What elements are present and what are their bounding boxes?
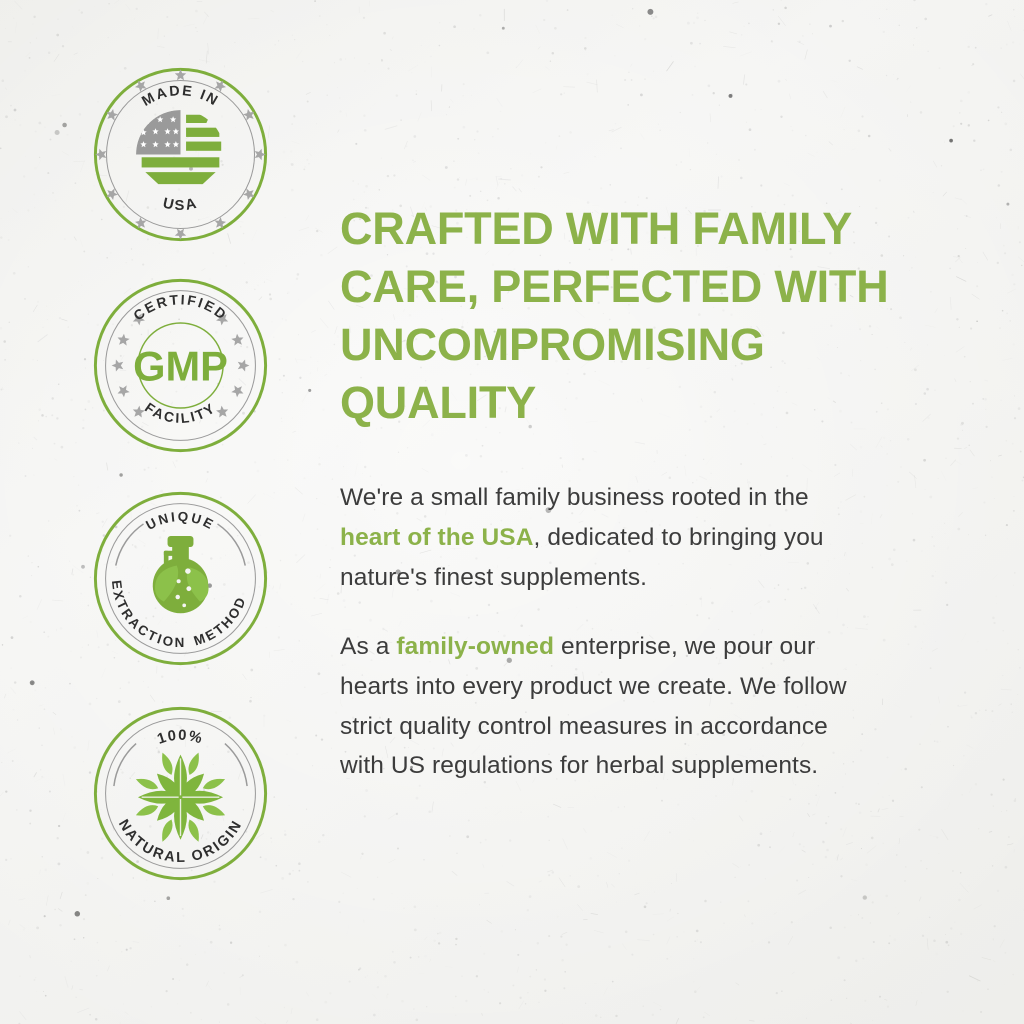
unique-extraction-method-badge: UNIQUE EXTRACTION METHOD [88,486,273,671]
flask-leaf-icon [153,536,209,613]
page-headline: Crafted with family care, perfected with… [340,200,900,432]
decorative-arc-left [114,744,136,787]
badge-top-text: 100% [155,728,205,748]
badge-top-text: MADE IN [139,83,221,110]
body-text: We're a small family business rooted in … [340,484,809,511]
us-flag-circle-icon [136,110,221,184]
highlighted-phrase: family-owned [396,633,554,660]
highlighted-phrase: heart of the USA [340,524,534,551]
page-root: MADE IN USA [0,0,1024,1024]
leaf-rosette-icon [134,751,226,843]
badge-bottom-text: FACILITY [142,399,219,426]
gmp-text-icon: GMP [133,342,228,389]
content-area: MADE IN USA [0,0,1024,1024]
badge-top-text: CERTIFIED [130,291,231,323]
natural-origin-badge: 100% NATURAL ORIGIN [88,701,273,886]
decorative-arc-right [218,524,246,566]
certification-badge-column: MADE IN USA [0,0,340,1024]
body-copy: We're a small family business rooted in … [340,478,914,786]
decorative-arc-right [225,744,247,787]
made-in-usa-badge: MADE IN USA [88,62,273,247]
body-text: As a [340,633,396,660]
paragraph-1: We're a small family business rooted in … [340,478,865,597]
badge-bottom-text: USA [161,196,200,214]
decorative-arc-left [116,524,144,566]
gmp-certified-badge: GMP CERTIFIED FACILITY [88,273,273,458]
paragraph-2: As a family-owned enterprise, we pour ou… [340,627,865,786]
text-column: Crafted with family care, perfected with… [340,0,1024,1024]
badge-top-text: UNIQUE [143,509,217,533]
